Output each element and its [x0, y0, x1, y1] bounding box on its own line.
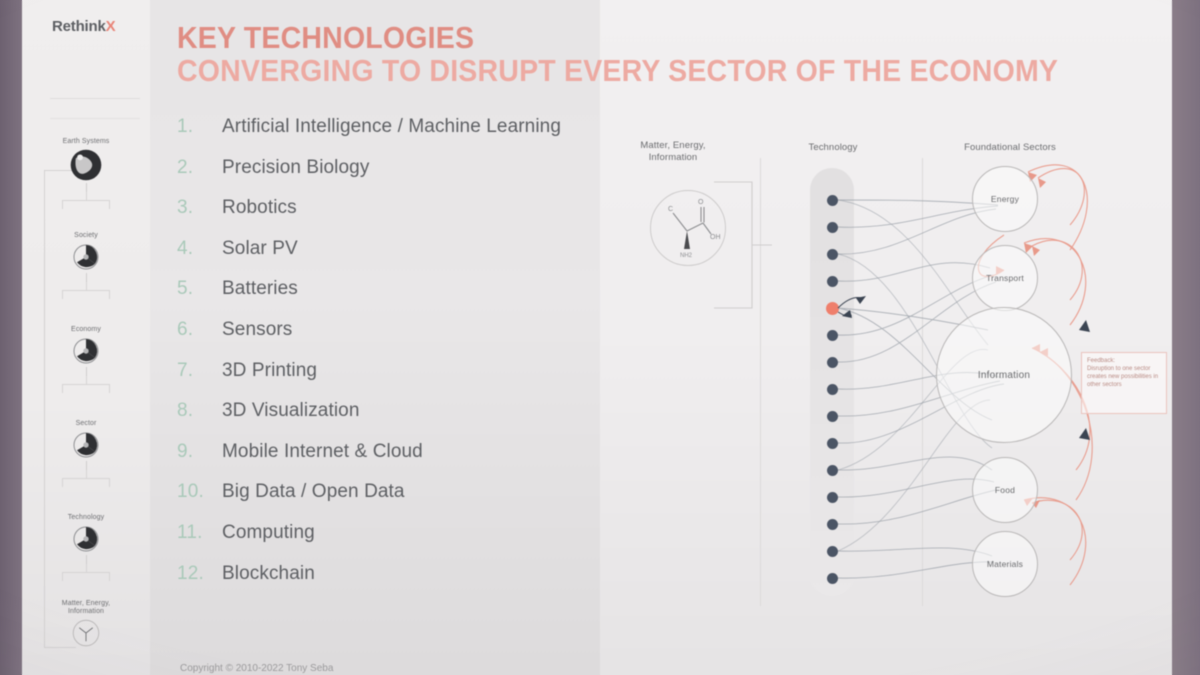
- technology-list: 1.Artificial Intelligence / Machine Lear…: [177, 116, 597, 603]
- sector-energy: Energy: [972, 166, 1038, 232]
- sector-energy-label: Energy: [991, 194, 1019, 204]
- technology-list-item: 1.Artificial Intelligence / Machine Lear…: [177, 116, 597, 157]
- technology-label: Mobile Internet & Cloud: [222, 441, 423, 463]
- hierarchy-node-label: Earth Systems: [22, 138, 150, 146]
- technology-label: Batteries: [222, 278, 298, 300]
- convergence-diagram: Matter, Energy, Information Technology F…: [600, 0, 1172, 675]
- technology-list-item: 7.3D Printing: [177, 360, 597, 401]
- hierarchy-node-icon-wrap: [22, 148, 150, 187]
- title-line-2: CONVERGING TO DISRUPT EVERY SECTOR OF TH…: [177, 54, 1079, 89]
- technology-list-item: 6.Sensors: [177, 319, 597, 360]
- technology-list-item: 10.Big Data / Open Data: [177, 481, 597, 522]
- hierarchy-node: Society: [22, 232, 150, 277]
- sector-food-label: Food: [995, 485, 1015, 495]
- technology-label: Computing: [222, 522, 315, 544]
- hierarchy-node: Economy: [22, 326, 150, 371]
- hierarchy-node-icon-wrap: [22, 430, 150, 465]
- copyright-footer: Copyright © 2010-2022 Tony Seba: [180, 663, 333, 674]
- sidebar-divider-2: [50, 118, 140, 119]
- technology-label: Big Data / Open Data: [222, 481, 405, 503]
- hierarchy-brace: [62, 478, 110, 487]
- technology-number: 2.: [177, 157, 222, 179]
- technology-number: 7.: [177, 360, 222, 382]
- letterbox-right: [1172, 0, 1200, 675]
- pie-node-icon: [71, 524, 101, 554]
- technology-number: 6.: [177, 319, 222, 341]
- molecule-node-icon: [71, 618, 101, 648]
- pie-node-icon: [71, 430, 101, 460]
- hierarchy-node-icon-wrap: [22, 242, 150, 277]
- technology-list-item: 8.3D Visualization: [177, 400, 597, 441]
- technology-number: 5.: [177, 278, 222, 300]
- hierarchy-node: Sector: [22, 420, 150, 465]
- hierarchy-node-label: Economy: [22, 326, 150, 334]
- sector-materials-label: Materials: [987, 559, 1023, 569]
- sector-information-label: Information: [978, 370, 1030, 381]
- technology-sector-links: [600, 0, 1172, 675]
- hierarchy-node: Matter, Energy, Information: [22, 600, 150, 653]
- technology-label: Artificial Intelligence / Machine Learni…: [222, 116, 561, 138]
- earth-icon: [69, 148, 103, 182]
- hierarchy-node-icon-wrap: [22, 336, 150, 371]
- technology-list-item: 4.Solar PV: [177, 238, 597, 279]
- feedback-annotation: Feedback: Disruption to one sector creat…: [1081, 352, 1167, 414]
- video-frame: RethinkX Earth SystemsSocietyEconomySect…: [0, 0, 1200, 675]
- presentation-slide: RethinkX Earth SystemsSocietyEconomySect…: [22, 0, 1172, 675]
- logo-text-accent: X: [106, 18, 116, 35]
- slide-sidebar: RethinkX Earth SystemsSocietyEconomySect…: [22, 0, 150, 675]
- technology-list-item: 5.Batteries: [177, 278, 597, 319]
- technology-label: 3D Visualization: [222, 400, 360, 422]
- technology-list-item: 11.Computing: [177, 522, 597, 563]
- technology-number: 4.: [177, 238, 222, 260]
- sector-information: Information: [936, 307, 1072, 443]
- hierarchy-brace: [62, 200, 110, 209]
- sector-transport-label: Transport: [986, 273, 1024, 283]
- hierarchy-brace: [62, 572, 110, 581]
- hierarchy-node: Earth Systems: [22, 138, 150, 187]
- technology-list-item: 12.Blockchain: [177, 563, 597, 604]
- hierarchy-node-icon-wrap: [22, 618, 150, 653]
- hierarchy-stack: Earth SystemsSocietyEconomySectorTechnol…: [22, 138, 150, 648]
- technology-number: 3.: [177, 197, 222, 219]
- logo-text-main: Rethink: [52, 18, 106, 35]
- technology-list-item: 3.Robotics: [177, 197, 597, 238]
- technology-label: Robotics: [222, 197, 297, 219]
- technology-label: Precision Biology: [222, 157, 369, 179]
- hierarchy-node-label: Technology: [22, 514, 150, 522]
- technology-number: 11.: [177, 522, 222, 544]
- hierarchy-node-label: Matter, Energy, Information: [22, 600, 150, 616]
- technology-label: 3D Printing: [222, 360, 317, 382]
- hierarchy-brace: [62, 290, 110, 299]
- technology-number: 10.: [177, 481, 222, 503]
- technology-label: Solar PV: [222, 238, 298, 260]
- feedback-body: Disruption to one sector creates new pos…: [1087, 365, 1161, 389]
- page-title: KEY TECHNOLOGIES CONVERGING TO DISRUPT E…: [177, 22, 1157, 89]
- technology-number: 1.: [177, 116, 222, 138]
- pie-node-icon: [71, 242, 101, 272]
- sector-materials: Materials: [972, 531, 1038, 597]
- technology-number: 8.: [177, 400, 222, 422]
- title-line-1: KEY TECHNOLOGIES: [177, 22, 1079, 54]
- hierarchy-brace: [62, 384, 110, 393]
- hierarchy-node-icon-wrap: [22, 524, 150, 559]
- rethinkx-logo: RethinkX: [52, 18, 115, 35]
- letterbox-left: [0, 0, 22, 675]
- technology-list-item: 2.Precision Biology: [177, 157, 597, 198]
- hierarchy-node: Technology: [22, 514, 150, 559]
- sidebar-divider-1: [50, 98, 140, 99]
- hierarchy-node-label: Sector: [22, 420, 150, 428]
- sector-transport: Transport: [972, 245, 1038, 311]
- pie-node-icon: [71, 336, 101, 366]
- technology-label: Sensors: [222, 319, 292, 341]
- hierarchy-node-label: Society: [22, 232, 150, 240]
- feedback-heading: Feedback:: [1087, 357, 1161, 365]
- technology-number: 9.: [177, 441, 222, 463]
- technology-label: Blockchain: [222, 563, 315, 585]
- sector-food: Food: [972, 457, 1038, 523]
- technology-number: 12.: [177, 563, 222, 585]
- technology-list-item: 9.Mobile Internet & Cloud: [177, 441, 597, 482]
